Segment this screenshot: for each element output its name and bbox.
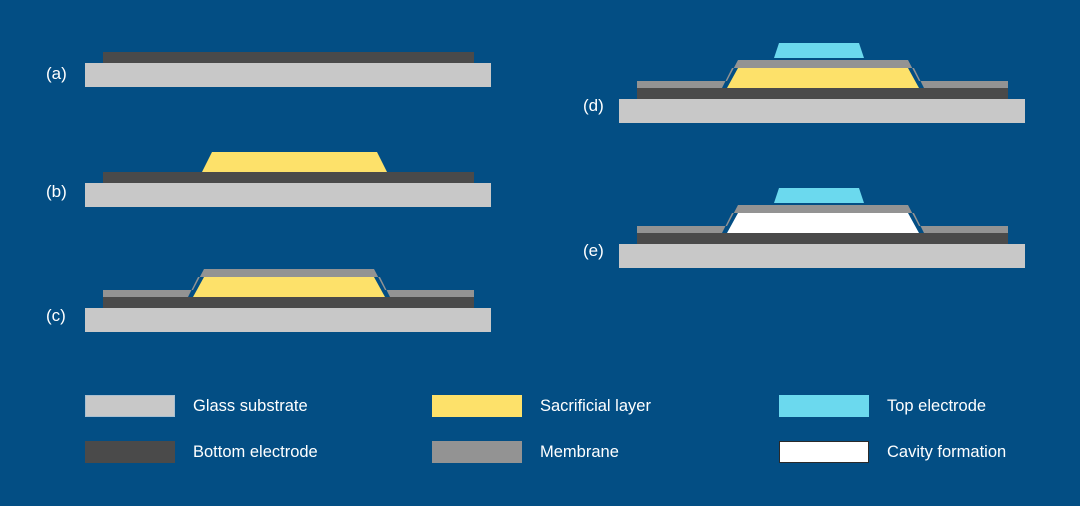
panel-label-c: (c) bbox=[46, 306, 66, 326]
legend-swatch-sacrificial-layer bbox=[432, 395, 522, 417]
legend-swatch-top-electrode bbox=[779, 395, 869, 417]
panel-e-bottom-electrode bbox=[637, 233, 1008, 244]
panel-a bbox=[85, 52, 491, 87]
panel-c-glass-substrate bbox=[85, 308, 491, 332]
panel-c-sacrificial-layer bbox=[193, 277, 385, 297]
legend-label-bottom-electrode: Bottom electrode bbox=[193, 443, 318, 462]
legend-item-bottom-electrode: Bottom electrode bbox=[85, 441, 318, 463]
panel-c bbox=[85, 269, 491, 332]
legend-swatch-membrane bbox=[432, 441, 522, 463]
panel-label-d: (d) bbox=[583, 96, 604, 116]
process-flow-diagram bbox=[0, 0, 1080, 506]
panel-a-bottom-electrode bbox=[103, 52, 474, 63]
legend-label-glass-substrate: Glass substrate bbox=[193, 397, 308, 416]
panel-label-a: (a) bbox=[46, 64, 67, 84]
legend-swatch-glass-substrate bbox=[85, 395, 175, 417]
panel-b-glass-substrate bbox=[85, 183, 491, 207]
panel-d-top-electrode bbox=[774, 43, 864, 58]
panel-e bbox=[619, 188, 1025, 268]
panel-c-bottom-electrode bbox=[103, 297, 474, 308]
panel-d-glass-substrate bbox=[619, 99, 1025, 123]
panel-b-sacrificial-layer bbox=[202, 152, 387, 172]
legend-label-cavity-formation: Cavity formation bbox=[887, 443, 1006, 462]
legend-item-glass-substrate: Glass substrate bbox=[85, 395, 308, 417]
panel-e-glass-substrate bbox=[619, 244, 1025, 268]
legend-label-top-electrode: Top electrode bbox=[887, 397, 986, 416]
panel-d-bottom-electrode bbox=[637, 88, 1008, 99]
panel-e-cavity-formation bbox=[727, 213, 919, 233]
legend-swatch-cavity-formation bbox=[779, 441, 869, 463]
panel-d-sacrificial-layer bbox=[727, 68, 919, 88]
legend-label-sacrificial-layer: Sacrificial layer bbox=[540, 397, 651, 416]
panel-e-top-electrode bbox=[774, 188, 864, 203]
legend-item-top-electrode: Top electrode bbox=[779, 395, 986, 417]
legend-label-membrane: Membrane bbox=[540, 443, 619, 462]
legend-item-membrane: Membrane bbox=[432, 441, 619, 463]
legend-item-sacrificial-layer: Sacrificial layer bbox=[432, 395, 651, 417]
panel-b-bottom-electrode bbox=[103, 172, 474, 183]
legend-swatch-bottom-electrode bbox=[85, 441, 175, 463]
panel-a-glass-substrate bbox=[85, 63, 491, 87]
panel-b bbox=[85, 152, 491, 207]
panel-d bbox=[619, 43, 1025, 123]
panel-label-b: (b) bbox=[46, 182, 67, 202]
legend-item-cavity-formation: Cavity formation bbox=[779, 441, 1006, 463]
panel-label-e: (e) bbox=[583, 241, 604, 261]
